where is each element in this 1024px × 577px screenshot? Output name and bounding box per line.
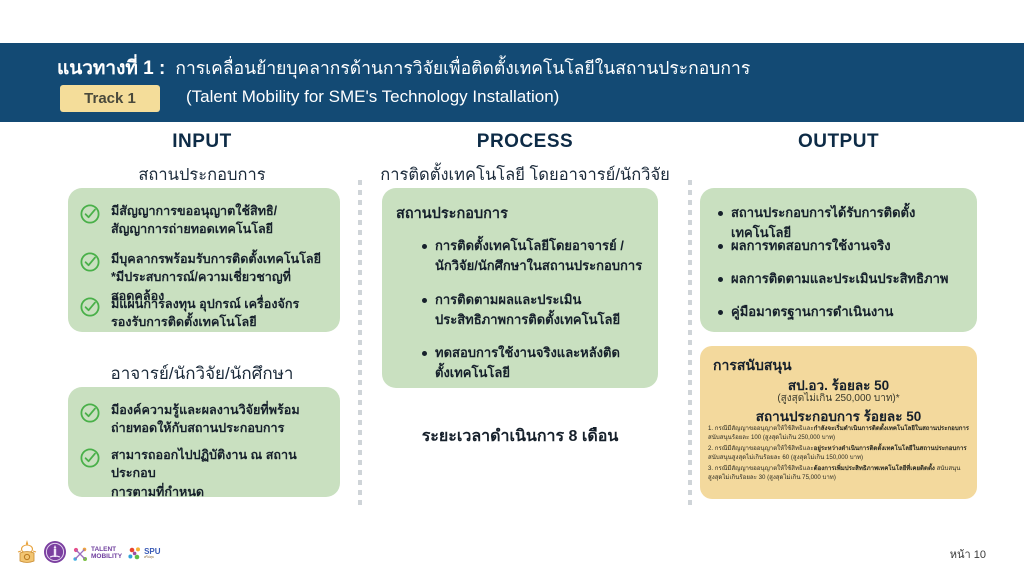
process-heading: PROCESS (375, 131, 675, 153)
fineprint-post: สนับสนุนร้อยละ 100 (สูงสุดไม่เกิน 250,00… (708, 434, 835, 441)
check-item: มีแผนการลงทุน อุปกรณ์ เครื่องจักร รองรับ… (80, 295, 330, 332)
track-badge[interactable]: Track 1 (60, 85, 160, 112)
spu-sublabel: ศรีปทุม (144, 556, 160, 559)
bullet-dot-icon (718, 310, 723, 315)
list-item-label: ผลการติดตามและประเมินประสิทธิภาพ (731, 269, 948, 289)
fineprint-bold: อยู่ระหว่างดำเนินการติดตั้งเทคโนโลยีในสถ… (814, 445, 967, 452)
fineprint-pre: กรณีมีสัญญาขออนุญาตให้ใช้สิทธิและ (713, 465, 814, 472)
fineprint-post: สนับสนุนสูงสุดไม่เกินร้อยละ 60 (สูงสุดไม… (708, 454, 863, 461)
check-item-label: สามารถออกไปปฏิบัติงาน ณ สถานประกอบ การตา… (111, 446, 332, 501)
university-seal-icon (43, 539, 67, 570)
list-item: คู่มือมาตรฐานการดำเนินงาน (718, 302, 968, 322)
check-item-label: มีสัญญาการขออนุญาตใช้สิทธิ/ สัญญาการถ่าย… (111, 202, 277, 239)
list-item: การติดตั้งเทคโนโลยีโดยอาจารย์ / นักวิจัย… (422, 236, 647, 275)
check-circle-icon (80, 297, 100, 317)
check-circle-icon (80, 204, 100, 224)
list-item-label: คู่มือมาตรฐานการดำเนินงาน (731, 302, 893, 322)
check-circle-icon (80, 448, 100, 468)
list-item: ทดสอบการใช้งานจริงและหลังติด ตั้งเทคโนโล… (422, 343, 647, 382)
input-heading: INPUT (62, 131, 342, 153)
process-duration: ระยะเวลาดำเนินการ 8 เดือน (382, 424, 658, 449)
talent-mobility-line2: MOBILITY (91, 554, 122, 561)
check-item-label: มีองค์ความรู้และผลงานวิจัยที่พร้อม ถ่ายท… (111, 401, 300, 438)
list-item-label: ผลการทดสอบการใช้งานจริง (731, 236, 891, 256)
list-item: ผลการติดตามและประเมินประสิทธิภาพ (718, 269, 968, 289)
input-card-academics: มีองค์ความรู้และผลงานวิจัยที่พร้อม ถ่ายท… (68, 387, 340, 497)
fineprint-pre: กรณีมีสัญญาขออนุญาตให้ใช้สิทธิและ (713, 445, 814, 452)
footer-logo-bar: TALENT MOBILITY SPU ศรีปทุม (16, 538, 151, 570)
fineprint-item: 1. กรณีมีสัญญาขออนุญาตให้ใช้สิทธิและกำลั… (708, 424, 970, 443)
guideline-label: แนวทางที่ 1 : (57, 53, 165, 83)
header-title-thai: การเคลื่อนย้ายบุคลากรด้านการวิจัยเพื่อติ… (175, 54, 750, 82)
list-item: การติดตามผลและประเมิน ประสิทธิภาพการติดต… (422, 290, 647, 329)
input-subheading-2: อาจารย์/นักวิจัย/นักศึกษา (62, 360, 342, 387)
divider-process-output (688, 180, 692, 510)
check-item: มีองค์ความรู้และผลงานวิจัยที่พร้อม ถ่ายท… (80, 401, 330, 438)
list-item-label: การติดตั้งเทคโนโลยีโดยอาจารย์ / นักวิจัย… (435, 236, 642, 275)
bullet-dot-icon (422, 244, 427, 249)
fineprint-bold: กำลังจะเริ่มดำเนินการติดตั้งเทคโนโลยีในส… (814, 425, 969, 432)
check-item-label: มีแผนการลงทุน อุปกรณ์ เครื่องจักร รองรับ… (111, 295, 299, 332)
bullet-dot-icon (718, 244, 723, 249)
bullet-dot-icon (718, 211, 723, 216)
list-item-label: ทดสอบการใช้งานจริงและหลังติด ตั้งเทคโนโล… (435, 343, 620, 382)
fineprint-item: 3. กรณีมีสัญญาขออนุญาตให้ใช้สิทธิและต้อง… (708, 464, 970, 483)
process-card: สถานประกอบการ การติดตั้งเทคโนโลยีโดยอาจา… (382, 188, 658, 388)
check-circle-icon (80, 252, 100, 272)
input-subheading: สถานประกอบการ (62, 162, 342, 188)
output-card: สถานประกอบการได้รับการติดตั้งเทคโนโลยี ผ… (700, 188, 977, 332)
divider-input-process (358, 180, 362, 510)
bullet-dot-icon (718, 277, 723, 282)
support-line-2: (สูงสุดไม่เกิน 250,000 บาท)* (700, 391, 977, 406)
process-subheading: การติดตั้งเทคโนโลยี โดยอาจารย์/นักวิจัย (360, 162, 690, 188)
support-box: การสนับสนุน สป.อว. ร้อยละ 50 (สูงสุดไม่เ… (700, 346, 977, 499)
input-card-establishment: มีสัญญาการขออนุญาตใช้สิทธิ/ สัญญาการถ่าย… (68, 188, 340, 332)
fineprint-item: 2. กรณีมีสัญญาขออนุญาตให้ใช้สิทธิและอยู่… (708, 444, 970, 463)
check-item: สามารถออกไปปฏิบัติงาน ณ สถานประกอบ การตา… (80, 446, 332, 501)
page-number: หน้า 10 (950, 545, 986, 563)
header-title-english: (Talent Mobility for SME's Technology In… (186, 87, 559, 107)
slide-root: แนวทางที่ 1 : การเคลื่อนย้ายบุคลากรด้านก… (0, 0, 1024, 577)
support-fineprint: 1. กรณีมีสัญญาขออนุญาตให้ใช้สิทธิและกำลั… (708, 424, 970, 484)
output-heading: OUTPUT (700, 131, 977, 153)
header-title-line: แนวทางที่ 1 : การเคลื่อนย้ายบุคลากรด้านก… (57, 53, 750, 83)
list-item: ผลการทดสอบการใช้งานจริง (718, 236, 968, 256)
talent-mobility-logo: TALENT MOBILITY (72, 546, 122, 563)
fineprint-pre: กรณีมีสัญญาขออนุญาตให้ใช้สิทธิและ (713, 425, 814, 432)
check-item: มีสัญญาการขออนุญาตใช้สิทธิ/ สัญญาการถ่าย… (80, 202, 330, 239)
header-band: แนวทางที่ 1 : การเคลื่อนย้ายบุคลากรด้านก… (0, 43, 1024, 122)
process-card-title: สถานประกอบการ (396, 202, 508, 225)
bullet-dot-icon (422, 298, 427, 303)
fineprint-bold: ต้องการเพิ่มประสิทธิภาพเทคโนโลยีที่เคยติ… (814, 465, 935, 472)
bullet-dot-icon (422, 351, 427, 356)
check-circle-icon (80, 403, 100, 423)
list-item-label: การติดตามผลและประเมิน ประสิทธิภาพการติดต… (435, 290, 620, 329)
ministry-emblem-icon (16, 539, 38, 570)
spu-logo: SPU ศรีปทุม (127, 546, 160, 562)
